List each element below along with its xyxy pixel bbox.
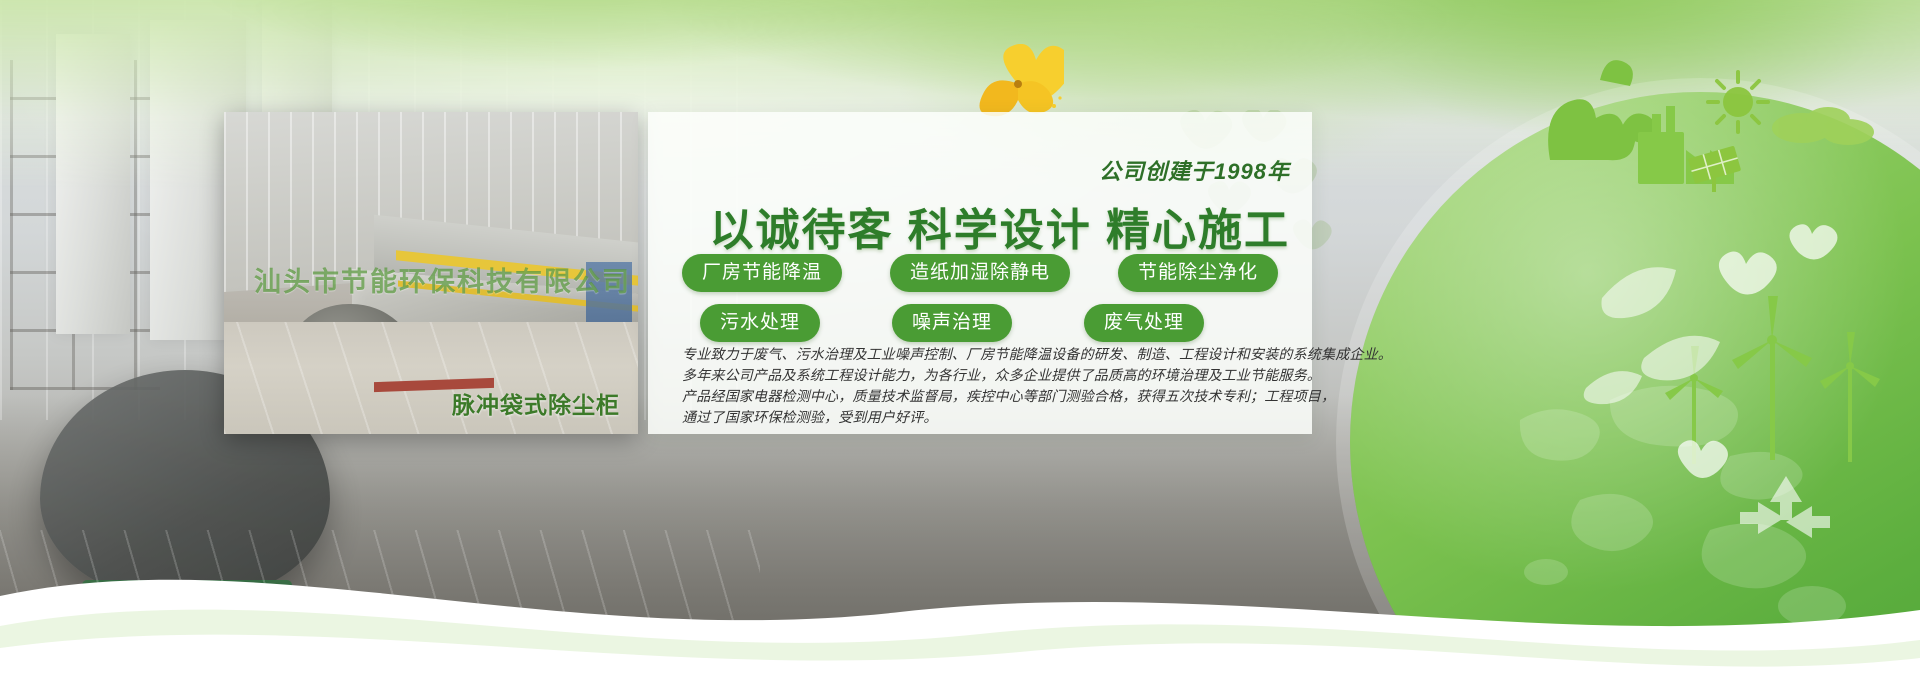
description-line: 专业致力于废气、污水治理及工业噪声控制、厂房节能降温设备的研发、制造、工程设计和… <box>682 344 1296 365</box>
photo-caption: 脉冲袋式除尘柜 <box>452 386 620 420</box>
service-tag[interactable]: 废气处理 <box>1084 304 1204 342</box>
service-tag-row-1: 厂房节能降温 造纸加湿除静电 节能除尘净化 <box>682 254 1290 292</box>
service-tag[interactable]: 污水处理 <box>700 304 820 342</box>
description-line: 通过了国家环保检测验，受到用户好评。 <box>682 407 1296 428</box>
service-tag-list: 厂房节能降温 造纸加湿除静电 节能除尘净化 污水处理 噪声治理 废气处理 <box>682 254 1290 354</box>
project-photo-card: 汕头市节能环保科技有限公司 脉冲袋式除尘柜 <box>224 112 638 434</box>
description-line: 产品经国家电器检测中心，质量技术监督局，疾控中心等部门测验合格，获得五次技术专利… <box>682 386 1296 407</box>
content-panel: 公司创建于1998年 以诚待客 科学设计 精心施工 厂房节能降温 造纸加湿除静电… <box>648 112 1312 434</box>
service-tag[interactable]: 噪声治理 <box>892 304 1012 342</box>
company-description: 专业致力于废气、污水治理及工业噪声控制、厂房节能降温设备的研发、制造、工程设计和… <box>682 344 1296 428</box>
established-text: 公司创建于1998年 <box>1099 154 1290 186</box>
hero-banner: 汕头市节能环保科技有限公司 脉冲袋式除尘柜 公司创建于1998年 以诚待客 科学… <box>0 0 1920 680</box>
yellow-butterfly-icon <box>972 44 1064 120</box>
service-tag-row-2: 污水处理 噪声治理 废气处理 <box>682 304 1290 342</box>
headline-slogan: 以诚待客 科学设计 精心施工 <box>710 194 1290 258</box>
service-tag[interactable]: 节能除尘净化 <box>1118 254 1278 292</box>
service-tag[interactable]: 造纸加湿除静电 <box>890 254 1070 292</box>
photo-watermark-company-name: 汕头市节能环保科技有限公司 <box>254 260 631 299</box>
bottom-wave-divider <box>0 500 1920 680</box>
description-line: 多年来公司产品及系统工程设计能力，为各行业，众多企业提供了品质高的环境治理及工业… <box>682 365 1296 386</box>
service-tag[interactable]: 厂房节能降温 <box>682 254 842 292</box>
